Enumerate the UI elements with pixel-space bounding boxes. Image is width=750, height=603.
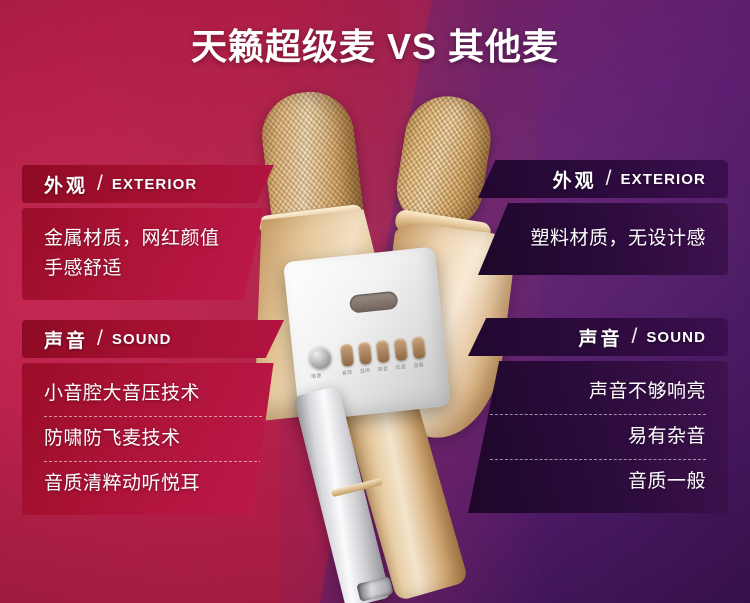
mic-label-3: 高音: [377, 365, 388, 373]
mic-button-4-icon: [394, 338, 408, 361]
panel-left-sound-divider-1: [44, 416, 262, 417]
panel-left-sound-body: 小音腔大音压技术 防啸防飞麦技术 音质清粹动听悦耳: [22, 363, 284, 515]
panel-left-sound-title-cn: 声音: [44, 326, 88, 353]
panel-left-exterior-body: 金属材质，网红颜值 手感舒适: [22, 208, 274, 300]
mic-label-5: 音量: [413, 361, 424, 369]
panel-left-sound-divider-2: [44, 461, 262, 462]
page-title: 天籁超级麦 VS 其他麦: [0, 18, 750, 70]
panel-right-sound-body: 声音不够响亮 易有杂音 音质一般: [468, 361, 728, 513]
panel-right-exterior-title-cn: 外观: [553, 166, 597, 193]
mic-label-2: 混响: [360, 367, 371, 375]
panel-left-exterior-line-2: 手感舒适: [44, 254, 252, 284]
panel-right-sound-line-2: 易有杂音: [490, 422, 706, 452]
mic-button-1-icon: [340, 344, 354, 367]
panel-right-exterior-separator: /: [606, 167, 612, 191]
promo-banner: 天籁超级麦 VS 其他麦 电源 音效 混响 高音 低音 音量: [0, 0, 750, 603]
mic-button-3-icon: [376, 340, 390, 363]
panel-right-exterior: 外观 / EXTERIOR 塑料材质，无设计感: [478, 160, 728, 275]
panel-left-sound-line-3: 音质清粹动听悦耳: [44, 469, 262, 499]
panel-left-sound-separator: /: [97, 327, 103, 351]
panel-right-sound: 声音 / SOUND 声音不够响亮 易有杂音 音质一般: [468, 318, 728, 513]
mic-display-screen-icon: [349, 291, 399, 314]
panel-left-exterior-line-1: 金属材质，网红颜值: [44, 224, 252, 254]
panel-right-sound-title-cn: 声音: [578, 324, 622, 351]
panel-left-exterior-title-cn: 外观: [44, 171, 88, 198]
mic-label-4: 低音: [395, 363, 406, 371]
panel-left-exterior: 外观 / EXTERIOR 金属材质，网红颜值 手感舒适: [22, 165, 274, 300]
panel-right-exterior-line-1: 塑料材质，无设计感: [530, 224, 706, 254]
panel-left-exterior-title-en: EXTERIOR: [112, 176, 197, 193]
mic-label-1: 音效: [342, 369, 353, 377]
panel-right-exterior-header: 外观 / EXTERIOR: [478, 160, 728, 198]
panel-right-sound-divider-2: [490, 459, 706, 460]
panel-left-exterior-separator: /: [97, 172, 103, 196]
panel-left-sound-header: 声音 / SOUND: [22, 320, 284, 358]
mic-button-2-icon: [358, 342, 372, 365]
panel-right-sound-line-3: 音质一般: [490, 467, 706, 497]
panel-left-sound-line-2: 防啸防飞麦技术: [44, 424, 262, 454]
panel-left-sound-line-1: 小音腔大音压技术: [44, 379, 262, 409]
panel-right-sound-line-1: 声音不够响亮: [490, 377, 706, 407]
panel-left-exterior-header: 外观 / EXTERIOR: [22, 165, 274, 203]
panel-left-sound: 声音 / SOUND 小音腔大音压技术 防啸防飞麦技术 音质清粹动听悦耳: [22, 320, 284, 515]
mic-button-5-icon: [412, 336, 426, 359]
mic-label-0: 电源: [311, 372, 322, 380]
panel-right-sound-title-en: SOUND: [646, 329, 706, 346]
panel-right-sound-separator: /: [631, 325, 637, 349]
panel-left-sound-title-en: SOUND: [112, 331, 172, 348]
panel-right-sound-divider-1: [490, 414, 706, 415]
panel-right-sound-header: 声音 / SOUND: [468, 318, 728, 356]
panel-right-exterior-body: 塑料材质，无设计感: [478, 203, 728, 275]
panel-right-exterior-title-en: EXTERIOR: [621, 171, 706, 188]
mic-power-knob-icon: [308, 346, 332, 370]
